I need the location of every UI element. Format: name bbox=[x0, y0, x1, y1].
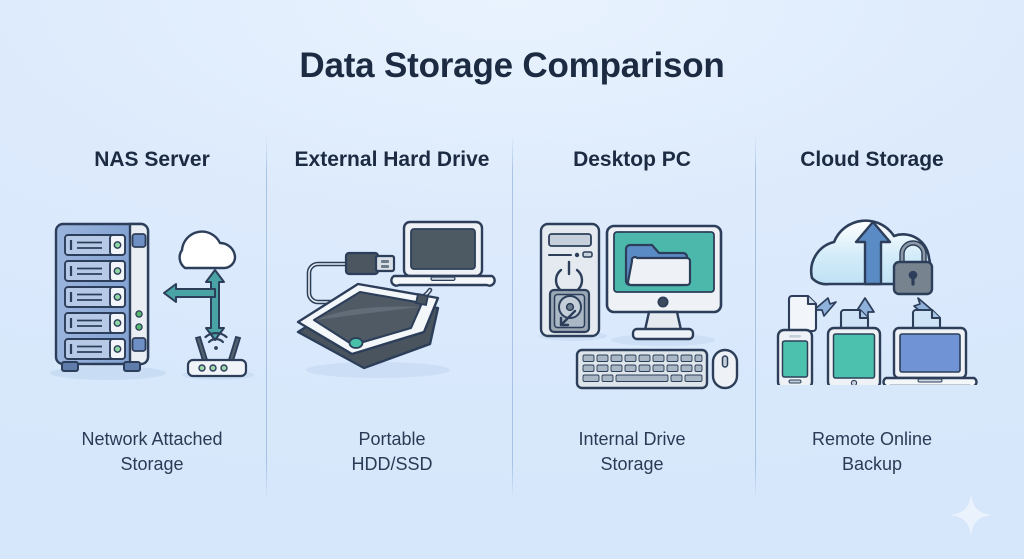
keyboard bbox=[577, 350, 707, 388]
laptop-touchpad-notch bbox=[431, 277, 455, 280]
monitor-neck bbox=[645, 312, 681, 330]
caption-line-1: Network Attached bbox=[32, 427, 272, 452]
tower-port bbox=[583, 252, 592, 257]
column-desktop-pc: Desktop PC bbox=[512, 135, 752, 505]
drive-led bbox=[350, 338, 363, 348]
router-led bbox=[199, 365, 205, 371]
wifi-router bbox=[182, 333, 254, 380]
caption-line-2: Backup bbox=[752, 452, 992, 477]
column-nas-server: NAS Server bbox=[32, 135, 272, 505]
caption-line-1: Internal Drive bbox=[512, 427, 752, 452]
drive-bay-group bbox=[65, 235, 125, 359]
tower-led bbox=[575, 253, 579, 257]
page-title: Data Storage Comparison bbox=[0, 46, 1024, 86]
column-cloud-storage: Cloud Storage bbox=[752, 135, 992, 505]
pc-tower bbox=[539, 224, 607, 341]
router-led bbox=[221, 365, 227, 371]
mouse bbox=[713, 350, 737, 388]
external-hard-drive-illustration bbox=[272, 210, 512, 410]
monitor-stand bbox=[633, 329, 693, 339]
file-icon bbox=[789, 296, 816, 331]
monitor-power-dot bbox=[658, 297, 667, 306]
smartphone-screen bbox=[783, 341, 808, 377]
infographic-canvas: Data Storage Comparison NAS Server bbox=[0, 0, 1024, 559]
sparkle-icon bbox=[948, 492, 994, 538]
column-external-hard-drive: External Hard Drive bbox=[272, 135, 512, 505]
mouse-wheel bbox=[723, 356, 728, 367]
arrow-cross bbox=[164, 270, 224, 340]
column-header-cloud-storage: Cloud Storage bbox=[752, 148, 992, 172]
drive-port bbox=[416, 294, 428, 305]
desktop-pc-illustration bbox=[512, 210, 752, 410]
laptop-icon bbox=[391, 222, 494, 286]
hdd-icon bbox=[550, 290, 589, 332]
laptop-screen bbox=[411, 229, 475, 269]
caption-line-2: HDD/SSD bbox=[272, 452, 512, 477]
portable-drive bbox=[298, 284, 450, 378]
smartphone bbox=[778, 330, 812, 385]
status-led bbox=[136, 311, 142, 317]
column-caption-desktop-pc: Internal Drive Storage bbox=[512, 427, 752, 477]
caption-line-1: Remote Online bbox=[752, 427, 992, 452]
laptop-screen bbox=[900, 334, 960, 372]
arrow-up-down bbox=[206, 270, 224, 340]
cloud-storage-illustration bbox=[752, 210, 992, 410]
column-header-external-hard-drive: External Hard Drive bbox=[272, 148, 512, 172]
smartphone-home-button bbox=[789, 380, 801, 383]
nas-panel-button-top bbox=[133, 234, 146, 247]
status-led bbox=[136, 324, 142, 330]
caption-line-2: Storage bbox=[512, 452, 752, 477]
upload-arrow-small bbox=[814, 298, 836, 316]
nas-server-illustration bbox=[32, 210, 272, 410]
tablet bbox=[828, 328, 880, 385]
column-header-nas-server: NAS Server bbox=[32, 148, 272, 172]
column-caption-cloud-storage: Remote Online Backup bbox=[752, 427, 992, 477]
tablet-screen bbox=[834, 334, 875, 378]
tablet-home-button bbox=[851, 380, 856, 385]
laptop bbox=[884, 328, 977, 385]
caption-line-2: Storage bbox=[32, 452, 272, 477]
caption-line-1: Portable bbox=[272, 427, 512, 452]
laptop-touchpad-notch bbox=[918, 379, 942, 382]
usb-connector bbox=[346, 253, 394, 274]
folder-front bbox=[628, 257, 690, 285]
nas-panel-button-bottom bbox=[133, 338, 146, 351]
column-caption-external-hard-drive: Portable HDD/SSD bbox=[272, 427, 512, 477]
column-caption-nas-server: Network Attached Storage bbox=[32, 427, 272, 477]
router-led bbox=[210, 365, 216, 371]
column-header-desktop-pc: Desktop PC bbox=[512, 148, 752, 172]
monitor bbox=[607, 226, 721, 346]
arrow-left bbox=[164, 284, 215, 302]
cloud-icon bbox=[180, 232, 235, 268]
optical-drive-slot bbox=[549, 234, 591, 246]
smartphone-speaker bbox=[789, 335, 801, 338]
